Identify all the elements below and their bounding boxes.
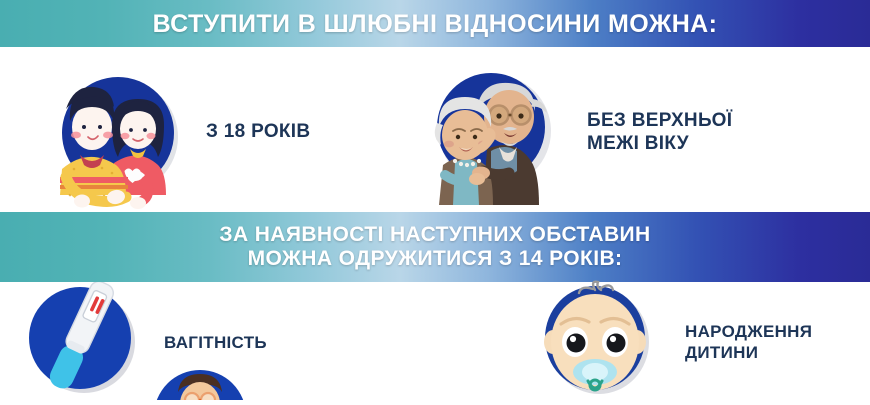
secondary-banner-line1: ЗА НАЯВНОСТІ НАСТУПНИХ ОБСТАВИН — [219, 223, 650, 247]
item-elderly-couple-label: БЕЗ ВЕРХНЬОЇМЕЖІ ВІКУ — [587, 110, 732, 155]
birth-label-line2: ДИТИНИ — [685, 343, 758, 362]
elderly-label-line1: БЕЗ ВЕРХНЬОЇ — [587, 110, 732, 131]
item-elderly-couple: БЕЗ ВЕРХНЬОЇМЕЖІ ВІКУ — [415, 51, 732, 214]
item-child-birth: НАРОДЖЕННЯДИТИНИ — [533, 280, 812, 405]
item-young-couple: З 18 РОКІВ — [42, 51, 310, 214]
young-couple-icon — [42, 51, 192, 214]
age-requirements-section: З 18 РОКІВ — [0, 47, 870, 212]
exception-circumstances-section: ВАГІТНІСТЬ — [0, 282, 870, 400]
header-banner-primary: ВСТУПИТИ В ШЛЮБНІ ВІДНОСИНИ МОЖНА: — [0, 0, 870, 47]
elderly-label-line2: МЕЖІ ВІКУ — [587, 133, 689, 154]
pregnancy-test-icon — [22, 282, 150, 405]
header-banner-primary-text: ВСТУПИТИ В ШЛЮБНІ ВІДНОСИНИ МОЖНА: — [153, 10, 718, 38]
birth-label-line1: НАРОДЖЕННЯ — [685, 322, 812, 341]
item-pregnancy-label: ВАГІТНІСТЬ — [164, 333, 267, 353]
header-banner-secondary: ЗА НАЯВНОСТІ НАСТУПНИХ ОБСТАВИНМОЖНА ОДР… — [0, 212, 870, 282]
baby-face-icon — [533, 280, 669, 405]
item-young-couple-label: З 18 РОКІВ — [206, 121, 310, 143]
elderly-couple-icon — [415, 51, 573, 214]
secondary-banner-line2: МОЖНА ОДРУЖИТИСЯ З 14 РОКІВ: — [219, 247, 650, 271]
header-banner-secondary-text: ЗА НАЯВНОСТІ НАСТУПНИХ ОБСТАВИНМОЖНА ОДР… — [219, 223, 650, 270]
item-child-birth-label: НАРОДЖЕННЯДИТИНИ — [685, 322, 812, 362]
